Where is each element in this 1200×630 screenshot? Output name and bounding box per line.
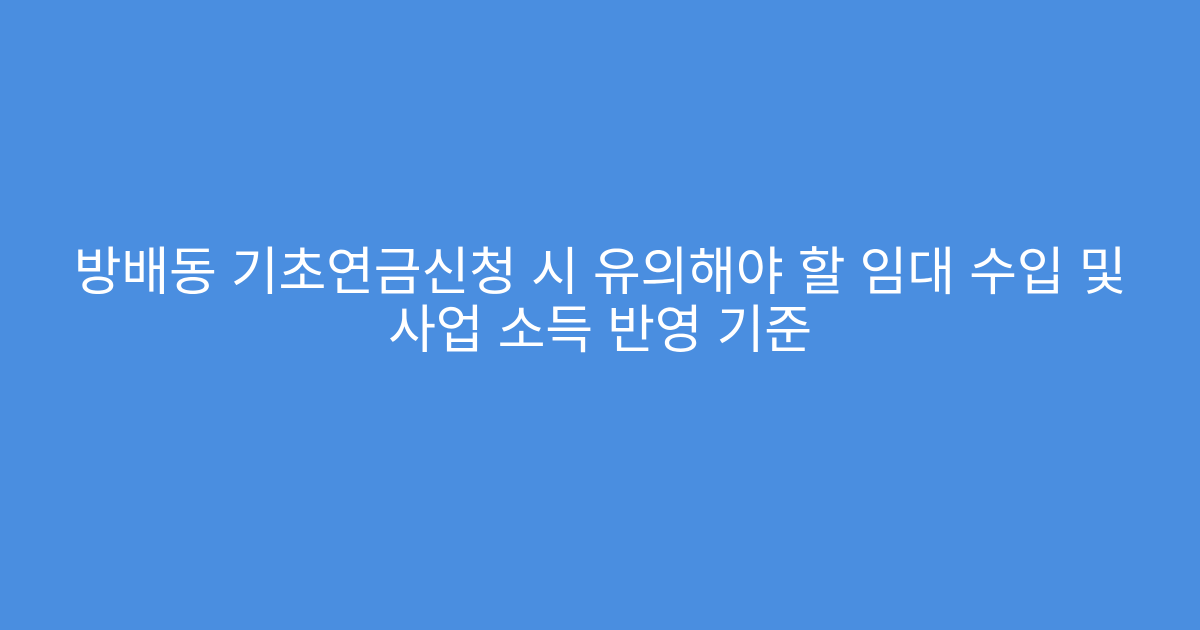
page-title: 방배동 기초연금신청 시 유의해야 할 임대 수입 및 사업 소득 반영 기준	[62, 244, 1138, 360]
og-image-card: 방배동 기초연금신청 시 유의해야 할 임대 수입 및 사업 소득 반영 기준	[0, 0, 1200, 630]
title-block: 방배동 기초연금신청 시 유의해야 할 임대 수입 및 사업 소득 반영 기준	[0, 244, 1200, 360]
